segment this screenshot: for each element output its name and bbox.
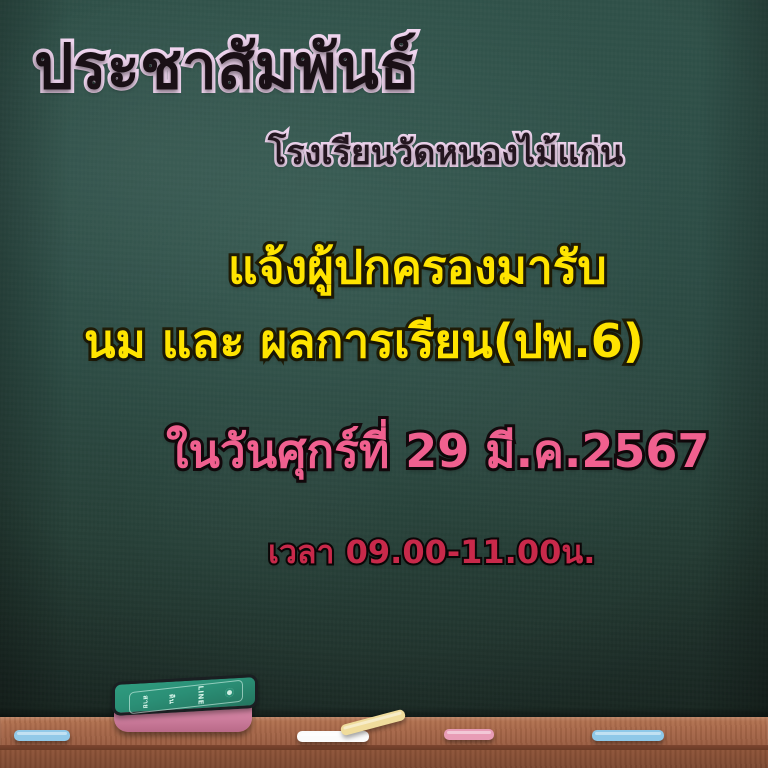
eraser-label-word-2: ดิน — [166, 693, 177, 704]
chalk-stick-blue-left — [14, 730, 70, 741]
chalkboard-poster: ประชาสัมพันธ์ โรงเรียนวัดหนองไม้แก่น แจ้… — [0, 0, 768, 768]
ledge-front-face — [0, 750, 768, 768]
school-name: โรงเรียนวัดหนองไม้แก่น — [268, 136, 623, 170]
chalk-stick-blue-right — [592, 730, 664, 741]
announcement-line-2: นม และ ผลการเรียน(ปพ.6) — [84, 318, 644, 364]
chalk-eraser: สาย ดิน LINE — [112, 678, 258, 734]
eraser-label-frame: สาย ดิน LINE — [129, 680, 243, 715]
line-logo-icon — [225, 687, 234, 697]
chalkboard-texture — [0, 0, 768, 768]
chalk-stick-white — [297, 731, 369, 742]
eraser-label-word-3: LINE — [197, 685, 205, 705]
event-date: ในวันศุกร์ที่ 29 มี.ค.2567 — [166, 428, 709, 474]
page-title: ประชาสัมพันธ์ — [34, 36, 417, 98]
chalk-stick-pink — [444, 729, 494, 740]
announcement-line-1: แจ้งผู้ปกครองมารับ — [228, 244, 607, 290]
eraser-label-word-1: สาย — [139, 694, 150, 709]
event-time: เวลา 09.00-11.00น. — [268, 536, 595, 568]
